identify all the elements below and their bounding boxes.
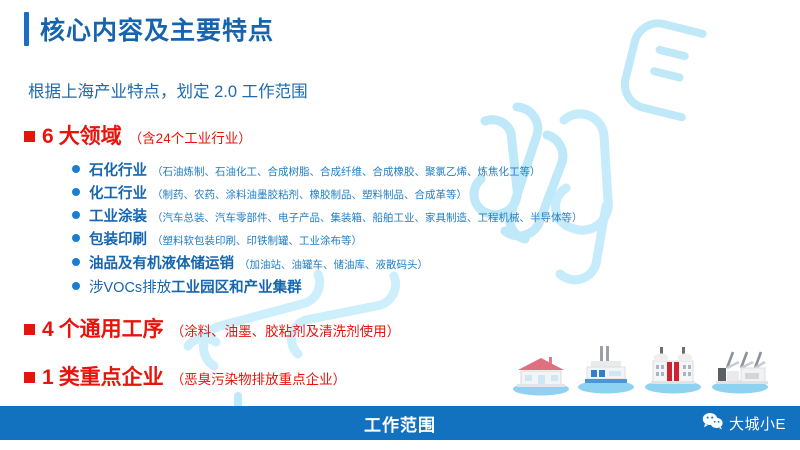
round-bullet-icon: [72, 188, 80, 196]
round-bullet-icon: [72, 165, 80, 173]
footer-bottom-strip: [0, 440, 800, 450]
list-item-detail: （加油站、油罐车、储油库、液散码头）: [239, 257, 428, 272]
footer-brand: 大城小E: [702, 406, 786, 440]
section-main-label: 个通用工序: [59, 313, 164, 343]
round-bullet-icon: [72, 211, 80, 219]
list-item-detail: （石油炼制、石油化工、合成树脂、合成纤维、合成橡胶、聚氯乙烯、炼焦化工等）: [152, 164, 541, 179]
page-title: 核心内容及主要特点: [24, 11, 274, 47]
title-accent-bar: [24, 12, 29, 46]
round-bullet-icon: [72, 234, 80, 242]
list-item: 石化行业 （石油炼制、石油化工、合成树脂、合成纤维、合成橡胶、聚氯乙烯、炼焦化工…: [72, 159, 541, 180]
list-item-name: 包装印刷: [89, 228, 147, 249]
section-heading-6-fields: 6 大领域 （含24个工业行业）: [24, 120, 252, 150]
wechat-icon: [702, 412, 724, 435]
factory-sawtooth-roof-icon: [705, 344, 771, 396]
footer-title: 工作范围: [0, 406, 800, 440]
list-item: 涉VOCs排放 工业园区和产业集群: [72, 276, 307, 297]
house-building-icon: [508, 348, 574, 400]
list-item-prefix: 涉VOCs排放: [89, 276, 171, 297]
section-heading-4-processes: 4 个通用工序 （涂料、油墨、胶粘剂及清洗剂使用）: [24, 313, 400, 343]
list-item-name: 工业涂装: [89, 205, 147, 226]
list-item-name: 石化行业: [89, 159, 147, 180]
slide-canvas: 核心内容及主要特点 根据上海产业特点，划定 2.0 工作范围 6 大领域 （含2…: [0, 0, 800, 450]
list-item-detail: （汽车总装、汽车零部件、电子产品、集装箱、船舶工业、家具制造、工程机械、半导体等…: [152, 210, 583, 225]
round-bullet-icon: [72, 258, 80, 266]
list-item-name: 油品及有机液体储运销: [89, 252, 234, 273]
list-item-name: 工业园区和产业集群: [171, 276, 302, 297]
square-bullet-icon: [24, 372, 35, 383]
square-bullet-icon: [24, 131, 35, 142]
square-bullet-icon: [24, 324, 35, 335]
list-item: 工业涂装 （汽车总装、汽车零部件、电子产品、集装箱、船舶工业、家具制造、工程机械…: [72, 205, 583, 226]
footer-bar: 工作范围 大城小E: [0, 406, 800, 440]
plant-twin-towers-icon: [640, 344, 706, 396]
list-item: 油品及有机液体储运销 （加油站、油罐车、储油库、液散码头）: [72, 252, 428, 273]
section-number: 6: [42, 125, 54, 149]
round-bullet-icon: [72, 282, 80, 290]
list-item-name: 化工行业: [89, 182, 147, 203]
list-item: 化工行业 （制药、农药、涂料油墨胶粘剂、橡胶制品、塑料制品、合成革等）: [72, 182, 467, 203]
section-number: 1: [42, 366, 54, 390]
section-heading-1-key-enterprise: 1 类重点企业 （恶臭污染物排放重点企业）: [24, 361, 346, 391]
list-item: 包装印刷 （塑料软包装印刷、印铁制罐、工业涂布等）: [72, 228, 362, 249]
watermark-ribbon-left: [455, 95, 585, 310]
section-sub-label: （涂料、油墨、胶粘剂及清洗剂使用）: [171, 320, 401, 340]
section-sub-label: （含24个工业行业）: [129, 127, 252, 147]
section-main-label: 大领域: [59, 120, 122, 150]
section-sub-label: （恶臭污染物排放重点企业）: [171, 368, 347, 388]
list-item-detail: （制药、农药、涂料油墨胶粘剂、橡胶制品、塑料制品、合成革等）: [152, 187, 467, 202]
lead-sentence: 根据上海产业特点，划定 2.0 工作范围: [28, 78, 308, 102]
factory-with-smokestacks-icon: [573, 344, 639, 396]
watermark-letter-e: [615, 15, 725, 125]
section-number: 4: [42, 318, 54, 342]
title-text: 核心内容及主要特点: [40, 11, 274, 47]
brand-name: 大城小E: [729, 413, 786, 434]
section-main-label: 类重点企业: [59, 361, 164, 391]
list-item-detail: （塑料软包装印刷、印铁制罐、工业涂布等）: [152, 233, 362, 248]
